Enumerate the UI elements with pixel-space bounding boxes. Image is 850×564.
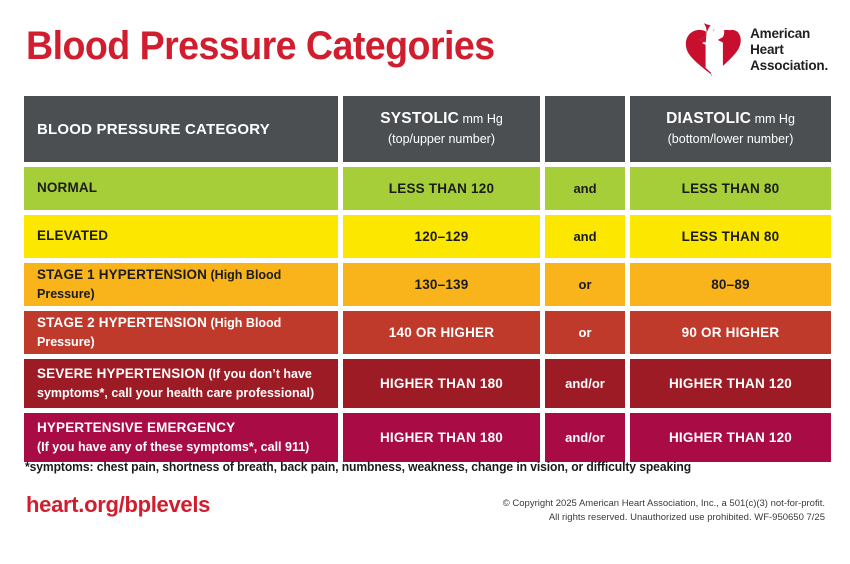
category-note-second-line: symptoms*, call your health care profess… (37, 386, 314, 400)
category-name: SEVERE HYPERTENSION (37, 366, 205, 381)
column-header-diastolic-label: DIASTOLIC (666, 110, 751, 127)
category-name: STAGE 1 HYPERTENSION (37, 267, 207, 282)
cell-connector: and/or (545, 413, 625, 462)
cell-category: ELEVATED (24, 215, 338, 258)
aha-logo-line3: Association. (750, 58, 828, 73)
category-name: HYPERTENSIVE EMERGENCY (37, 420, 235, 435)
category-label: NORMAL (37, 179, 97, 198)
cell-connector: and (545, 167, 625, 210)
cell-diastolic: HIGHER THAN 120 (630, 359, 831, 408)
cell-connector: and (545, 215, 625, 258)
category-label: ELEVATED (37, 227, 108, 246)
connector-value: or (579, 277, 592, 292)
header: Blood Pressure Categories American Heart… (0, 0, 850, 92)
cell-category: STAGE 2 HYPERTENSION (High Blood Pressur… (24, 311, 338, 354)
category-note-second-line: (If you have any of these symptoms*, cal… (37, 440, 309, 454)
cell-systolic: 120–129 (343, 215, 540, 258)
column-header-systolic: SYSTOLIC mm Hg (top/upper number) (343, 96, 540, 162)
copyright-line1: © Copyright 2025 American Heart Associat… (503, 498, 825, 509)
cell-systolic: HIGHER THAN 180 (343, 413, 540, 462)
diastolic-value: HIGHER THAN 120 (669, 430, 792, 445)
page-title: Blood Pressure Categories (26, 26, 495, 66)
site-url-link[interactable]: heart.org/bplevels (26, 492, 210, 518)
cell-category: NORMAL (24, 167, 338, 210)
column-header-systolic-label: SYSTOLIC (380, 110, 459, 127)
category-name: NORMAL (37, 180, 97, 195)
cell-category: STAGE 1 HYPERTENSION (High Blood Pressur… (24, 263, 338, 306)
column-header-systolic-sub: (top/upper number) (388, 132, 495, 146)
table-row: NORMALLESS THAN 120andLESS THAN 80 (24, 167, 826, 210)
category-name: ELEVATED (37, 228, 108, 243)
symptoms-footnote: *symptoms: chest pain, shortness of brea… (25, 460, 691, 474)
aha-logo-line1: American (750, 26, 810, 41)
category-note: (If you don’t have (205, 367, 312, 381)
diastolic-value: 80–89 (711, 277, 750, 292)
cell-diastolic: LESS THAN 80 (630, 167, 831, 210)
column-header-connector (545, 96, 625, 162)
connector-value: and (573, 229, 596, 244)
cell-systolic: 130–139 (343, 263, 540, 306)
copyright-line2: All rights reserved. Unauthorized use pr… (549, 512, 825, 523)
table-row: SEVERE HYPERTENSION (If you don’t havesy… (24, 359, 826, 408)
systolic-value: 140 OR HIGHER (389, 325, 494, 340)
systolic-value: HIGHER THAN 180 (380, 430, 503, 445)
cell-systolic: HIGHER THAN 180 (343, 359, 540, 408)
cell-category: HYPERTENSIVE EMERGENCY(If you have any o… (24, 413, 338, 462)
table-header-row: BLOOD PRESSURE CATEGORY SYSTOLIC mm Hg (… (24, 96, 826, 162)
column-header-diastolic: DIASTOLIC mm Hg (bottom/lower number) (630, 96, 831, 162)
cell-diastolic: 80–89 (630, 263, 831, 306)
connector-value: and/or (565, 376, 605, 391)
category-name: STAGE 2 HYPERTENSION (37, 315, 207, 330)
category-label: STAGE 2 HYPERTENSION (High Blood Pressur… (37, 314, 338, 352)
table-row: STAGE 2 HYPERTENSION (High Blood Pressur… (24, 311, 826, 354)
table-row: ELEVATED120–129andLESS THAN 80 (24, 215, 826, 258)
aha-logo-line2: Heart (750, 42, 784, 57)
cell-diastolic: HIGHER THAN 120 (630, 413, 831, 462)
cell-systolic: LESS THAN 120 (343, 167, 540, 210)
column-header-diastolic-unit: mm Hg (755, 112, 795, 126)
table-body: NORMALLESS THAN 120andLESS THAN 80ELEVAT… (24, 167, 826, 462)
connector-value: and/or (565, 430, 605, 445)
category-label: HYPERTENSIVE EMERGENCY(If you have any o… (37, 419, 309, 457)
category-label: STAGE 1 HYPERTENSION (High Blood Pressur… (37, 266, 338, 304)
cell-connector: or (545, 311, 625, 354)
cell-diastolic: LESS THAN 80 (630, 215, 831, 258)
systolic-value: 120–129 (415, 229, 469, 244)
cell-connector: and/or (545, 359, 625, 408)
category-label: SEVERE HYPERTENSION (If you don’t havesy… (37, 365, 314, 403)
table-row: HYPERTENSIVE EMERGENCY(If you have any o… (24, 413, 826, 462)
column-header-diastolic-sub: (bottom/lower number) (668, 132, 794, 146)
diastolic-value: 90 OR HIGHER (682, 325, 780, 340)
copyright-notice: © Copyright 2025 American Heart Associat… (503, 497, 825, 525)
connector-value: or (579, 325, 592, 340)
column-header-category-label: BLOOD PRESSURE CATEGORY (37, 121, 270, 138)
connector-value: and (573, 181, 596, 196)
systolic-value: HIGHER THAN 180 (380, 376, 503, 391)
bp-categories-table: BLOOD PRESSURE CATEGORY SYSTOLIC mm Hg (… (24, 96, 826, 467)
blood-pressure-categories-infographic: Blood Pressure Categories American Heart… (0, 0, 850, 564)
cell-systolic: 140 OR HIGHER (343, 311, 540, 354)
systolic-value: LESS THAN 120 (389, 181, 494, 196)
aha-logo: American Heart Association. (685, 22, 828, 78)
diastolic-value: LESS THAN 80 (682, 229, 780, 244)
systolic-value: 130–139 (415, 277, 469, 292)
aha-heart-torch-logo-icon (685, 23, 741, 77)
table-row: STAGE 1 HYPERTENSION (High Blood Pressur… (24, 263, 826, 306)
cell-diastolic: 90 OR HIGHER (630, 311, 831, 354)
column-header-category: BLOOD PRESSURE CATEGORY (24, 96, 338, 162)
cell-category: SEVERE HYPERTENSION (If you don’t havesy… (24, 359, 338, 408)
cell-connector: or (545, 263, 625, 306)
diastolic-value: HIGHER THAN 120 (669, 376, 792, 391)
aha-logo-wordmark: American Heart Association. (750, 26, 828, 73)
diastolic-value: LESS THAN 80 (682, 181, 780, 196)
column-header-systolic-unit: mm Hg (463, 112, 503, 126)
